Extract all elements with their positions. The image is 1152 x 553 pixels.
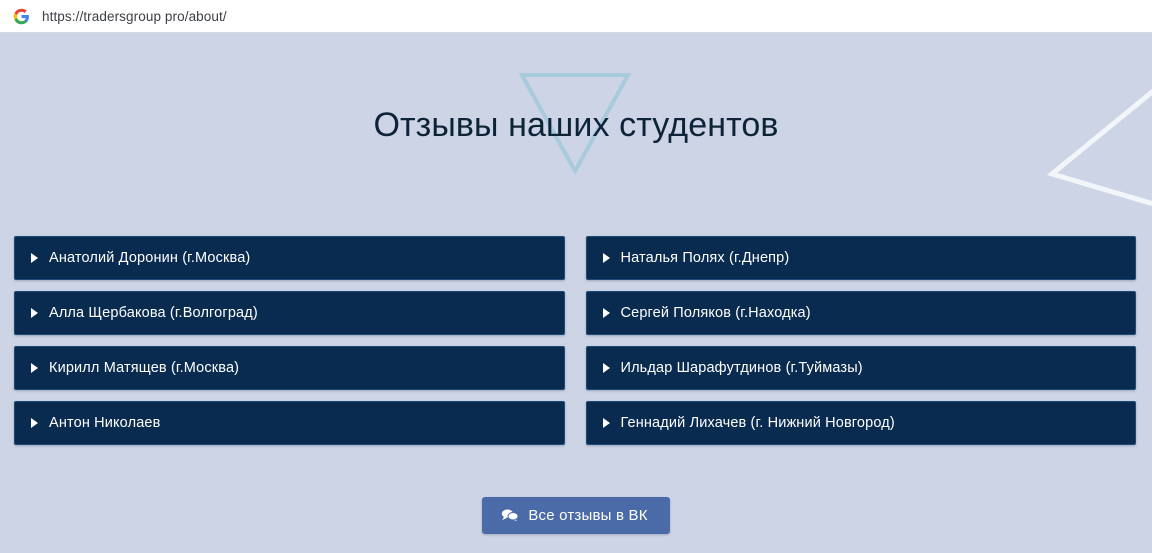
all-reviews-vk-button[interactable]: Все отзывы в ВК [482, 497, 669, 534]
caret-right-icon [603, 253, 610, 263]
page-content: Отзывы наших студентов Анатолий Доронин … [0, 33, 1152, 553]
accordion-item[interactable]: Алла Щербакова (г.Волгоград) [14, 291, 565, 335]
caret-right-icon [31, 308, 38, 318]
accordion-item-label: Анатолий Доронин (г.Москва) [49, 250, 250, 266]
caret-right-icon [603, 363, 610, 373]
accordion-item[interactable]: Кирилл Матящев (г.Москва) [14, 346, 565, 390]
browser-address-bar[interactable]: https://tradersgroup pro/about/ [0, 0, 1152, 33]
accordion-item[interactable]: Сергей Поляков (г.Находка) [586, 291, 1137, 335]
accordion-item-label: Ильдар Шарафутдинов (г.Туймазы) [621, 360, 863, 376]
browser-window: https://tradersgroup pro/about/ Отзывы н… [0, 0, 1152, 553]
reviews-column-right: Наталья Полях (г.Днепр) Сергей Поляков (… [586, 236, 1137, 445]
caret-right-icon [603, 418, 610, 428]
accordion-item-label: Антон Николаев [49, 415, 160, 431]
reviews-accordion: Анатолий Доронин (г.Москва) Алла Щербако… [14, 236, 1136, 445]
accordion-item-label: Наталья Полях (г.Днепр) [621, 250, 790, 266]
url-text: https://tradersgroup pro/about/ [42, 9, 227, 24]
accordion-item[interactable]: Антон Николаев [14, 401, 565, 445]
all-reviews-vk-label: Все отзывы в ВК [528, 508, 647, 523]
accordion-item-label: Геннадий Лихачев (г. Нижний Новгород) [621, 415, 895, 431]
page-title: Отзывы наших студентов [0, 105, 1152, 146]
comments-icon [501, 508, 519, 523]
cta-row: Все отзывы в ВК [0, 497, 1152, 534]
accordion-item-label: Кирилл Матящев (г.Москва) [49, 360, 239, 376]
accordion-item-label: Алла Щербакова (г.Волгоград) [49, 305, 258, 321]
caret-right-icon [31, 253, 38, 263]
caret-right-icon [31, 418, 38, 428]
reviews-column-left: Анатолий Доронин (г.Москва) Алла Щербако… [14, 236, 565, 445]
caret-right-icon [31, 363, 38, 373]
accordion-item[interactable]: Наталья Полях (г.Днепр) [586, 236, 1137, 280]
google-g-icon [13, 8, 30, 25]
accordion-item[interactable]: Ильдар Шарафутдинов (г.Туймазы) [586, 346, 1137, 390]
accordion-item-label: Сергей Поляков (г.Находка) [621, 305, 811, 321]
accordion-item[interactable]: Анатолий Доронин (г.Москва) [14, 236, 565, 280]
accordion-item[interactable]: Геннадий Лихачев (г. Нижний Новгород) [586, 401, 1137, 445]
caret-right-icon [603, 308, 610, 318]
